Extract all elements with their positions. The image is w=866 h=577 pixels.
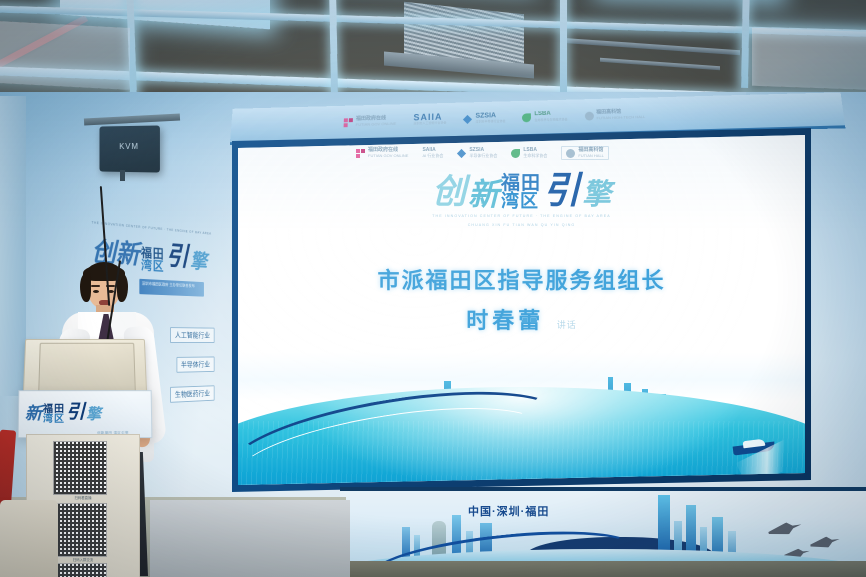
person-eye-left [93,290,99,293]
qr-code[interactable] [53,441,107,495]
backdrop-jet-icon [767,519,803,539]
sponsor-sub: 生命科学与生物技术协会 [534,117,567,122]
slide-sponsor-item: 福田政府在线 FUTIAN GOV ONLINE [356,148,408,158]
conference-hall-photo: KVM 福田政府在线 FUTIAN GOV ONLINE SAIIA 深圳市人工… [0,0,866,577]
sponsor-item: SZSIA 深圳市半导体行业协会 [463,113,505,125]
slide-speaker-title: 市派福田区指导服务组组长 [238,263,805,295]
logo-word-wanqu: 湾区 [501,193,541,210]
sponsor-sub: 深圳市半导体行业协会 [475,118,505,123]
lsba-logo-icon [522,113,531,122]
backdrop-caption: 中国·深圳·福田 [468,503,549,519]
logo-char-yin: 引 [543,173,580,210]
person-hair-left [80,274,91,302]
person-hair-right [117,274,128,302]
lsba-logo-icon [511,149,520,158]
stage-backdrop: 中国·深圳·福田 [340,487,866,577]
logo-char-chuang: 创 [432,176,466,210]
logo-word-wanqu: 湾区 [43,414,65,424]
sponsor-sub: 深圳市人工智能行业协会 [413,120,446,125]
lectern-front-banner: 新 福田 湾区 引 擎 创新福田 湾区引擎 [18,390,153,438]
slide-sponsor-item: SAIIA AI 行业协会 [422,148,443,158]
industry-tag-semiconductor: 半导体行业 [176,357,214,373]
logo-char-qing: 擎 [582,181,611,210]
industry-tag-ai: 人工智能行业 [170,327,214,343]
stage-floor-strip [340,561,866,577]
szsia-logo-icon [463,114,472,123]
speaker-mount-arm [120,170,125,181]
slide-sponsor-row: 福田政府在线 FUTIAN GOV ONLINE SAIIA AI 行业协会 [356,145,756,161]
logo-char-qing: 擎 [86,403,101,424]
slide-sponsor-sub: 半导体行业协会 [469,153,497,158]
sponsor-name: LSBA [534,111,567,117]
backdrop-building [686,505,696,557]
slide-speaker-name-row: 时春蕾 讲话 [238,303,805,335]
backdrop-tower-pingan [658,495,670,557]
slide-logo-pinyin: CHUANG XIN FU TIAN WAN QU YIN QING [407,223,637,228]
lectern-logo: 新 福田 湾区 引 擎 [25,397,145,427]
logo-char-qing: 擎 [190,245,207,275]
hall-floor-highlight [150,500,350,577]
slide-sponsor-sub: FUTIAN GOV ONLINE [368,153,408,158]
futian-gov-logo-icon [344,118,353,127]
presentation-slide: 福田政府在线 FUTIAN GOV ONLINE SAIIA AI 行业协会 [238,135,805,485]
slide-sponsor-sub: AI 行业协会 [422,153,443,158]
slide-event-logo: 创 新 福田 湾区 引 擎 THE INNOVATION CENTER OF F… [407,173,637,249]
led-screen: 福田政府在线 FUTIAN GOV ONLINE SAIIA AI 行业协会 [222,128,812,493]
slide-sponsor-item: LSBA 生命科学协会 [511,148,547,158]
slide-bay-artwork [238,363,805,485]
slide-sponsor-sub: FUTIAN HALL [578,153,604,158]
sponsor-name: SAIIA [413,114,446,120]
futian-hall-logo-icon [584,111,593,120]
ceiling-light-panel [0,20,130,90]
slide-speaker-name: 时春蕾 [466,308,544,333]
ceiling-light-panel [752,28,866,91]
slide-sponsor-item: SZSIA 半导体行业协会 [457,148,497,158]
sponsor-item: LSBA 生命科学与生物技术协会 [522,111,567,123]
sponsor-sub: FUTIAN HIGH-TECH HALL [596,114,645,120]
lectern-top [23,339,147,396]
kvm-label: KVM [99,142,159,151]
slide-logo-strapline: THE INNOVATION CENTER OF FUTURE · THE EN… [407,214,637,219]
logo-char-xin: 新 [468,179,499,210]
ceiling-frame-bar [560,0,567,92]
backdrop-jet-icon [809,534,841,551]
sponsor-item: 福田政府在线 FUTIAN GOV ONLINE [344,116,397,127]
qr-code[interactable] [53,503,107,557]
futian-gov-logo-icon [356,149,365,158]
futian-hall-logo-icon [566,149,575,158]
slide-sponsor-sub: 生命科学协会 [523,153,547,158]
szsia-logo-icon [457,148,466,157]
sponsor-item: 福田高科馆 FUTIAN HIGH-TECH HALL [584,109,645,120]
qr-code[interactable] [53,563,107,577]
led-screen-surface: 福田政府在线 FUTIAN GOV ONLINE SAIIA AI 行业协会 [222,128,812,493]
person-brow-left [91,285,100,287]
foreground-chair [0,500,58,577]
wall-speaker: KVM [99,125,159,172]
sponsor-sub: FUTIAN GOV ONLINE [356,121,397,127]
logo-char-yin: 引 [66,397,85,424]
logo-char-xin: 新 [25,399,42,424]
sponsor-item: SAIIA 深圳市人工智能行业协会 [413,114,446,126]
laptop[interactable] [38,343,136,392]
slide-speaker-action: 讲话 [557,320,577,330]
slide-sponsor-item: 福田高科馆 FUTIAN HALL [561,146,609,160]
sponsor-name: SZSIA [475,113,505,119]
